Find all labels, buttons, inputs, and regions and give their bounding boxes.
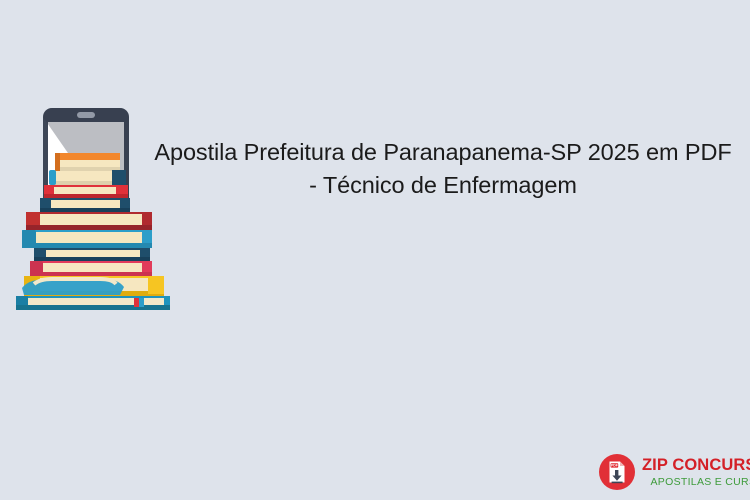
brand-logo[interactable]: PDF ZIP CONCURSOS APOSTILAS E CURSOS	[598, 450, 748, 494]
book-teal-cover-slant	[22, 279, 124, 295]
brand-wordmark: ZIP CONCURSOS APOSTILAS E CURSOS	[642, 457, 750, 487]
product-title-line-2: - Técnico de Enfermagem	[136, 169, 750, 202]
book-cream-second	[49, 170, 126, 185]
book-red-third	[44, 185, 128, 198]
book-blue-sixth	[22, 230, 152, 248]
brand-name: ZIP CONCURSOS	[642, 457, 750, 474]
book-orange-top	[55, 153, 120, 171]
book-darkred-fifth	[26, 212, 152, 230]
brand-tagline: APOSTILAS E CURSOS	[642, 477, 750, 488]
product-title: Apostila Prefeitura de Paranapanema-SP 2…	[136, 136, 750, 202]
pdf-download-icon: PDF	[598, 453, 636, 491]
svg-text:PDF: PDF	[611, 464, 618, 468]
product-title-line-1: Apostila Prefeitura de Paranapanema-SP 2…	[136, 136, 750, 169]
book-navy-fourth	[40, 198, 130, 212]
book-pink-eighth	[30, 261, 152, 276]
page-root: Apostila Prefeitura de Paranapanema-SP 2…	[0, 0, 750, 500]
book-teal-base	[16, 296, 170, 310]
book-navy-seventh	[34, 248, 150, 261]
